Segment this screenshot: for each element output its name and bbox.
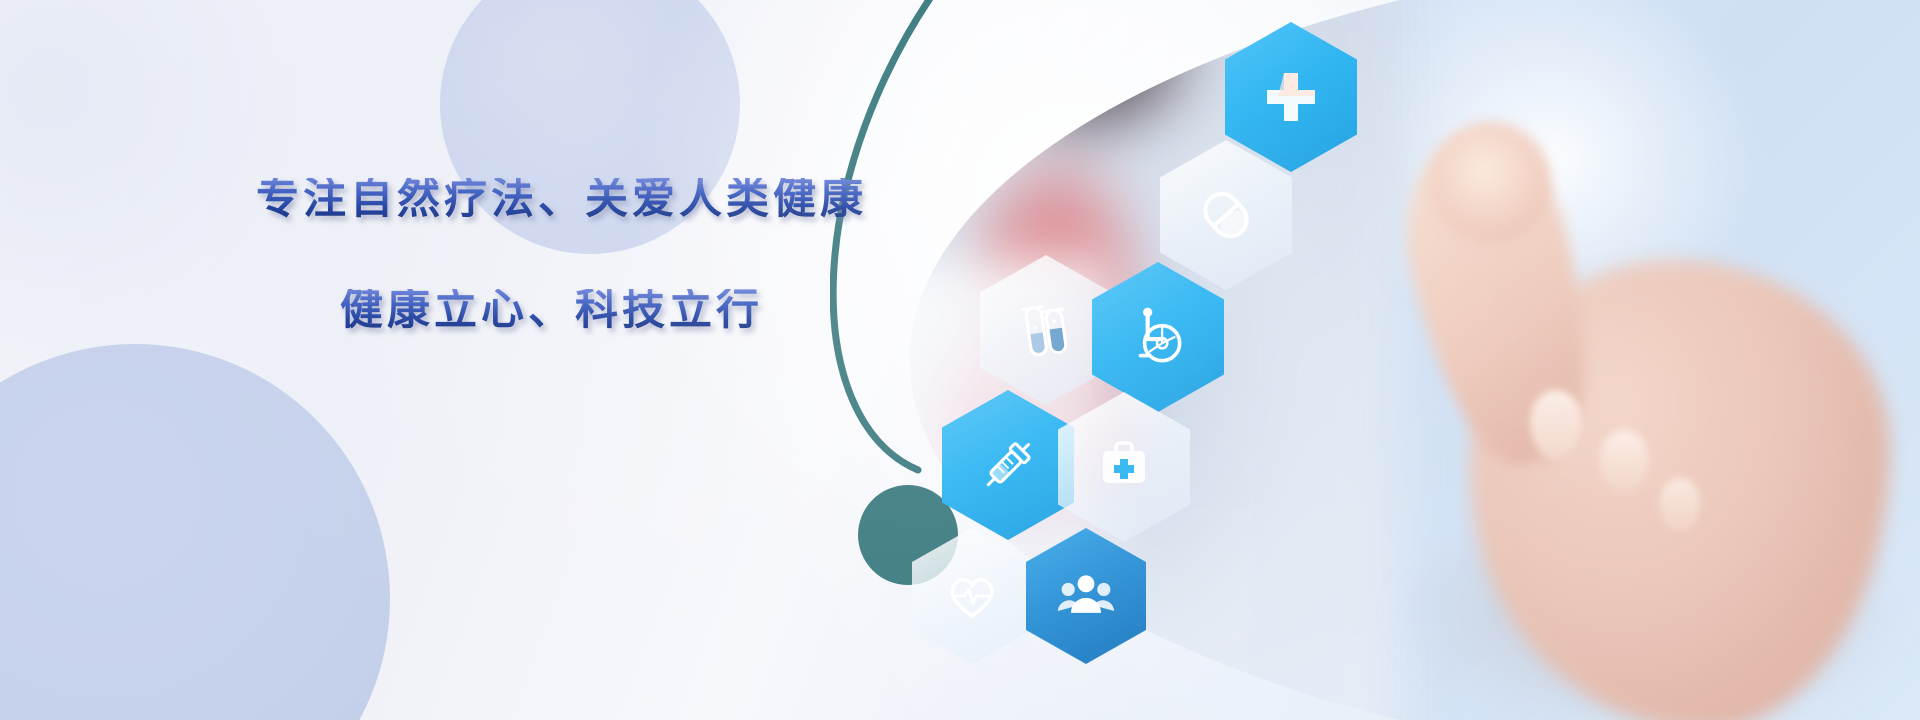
heart-icon [943, 567, 1001, 625]
photo-panel [830, 0, 1920, 720]
hexagon-icon-cluster [830, 0, 1920, 720]
test-tubes-icon [1013, 297, 1079, 363]
people-group-icon [1056, 566, 1116, 626]
capsule-pill-icon [1193, 182, 1259, 248]
first-aid-kit-icon [1092, 435, 1156, 499]
headline-line-1: 专注自然疗法、关爱人类健康 [256, 178, 896, 221]
medical-cross-icon [1259, 65, 1323, 129]
syringe-icon [975, 432, 1041, 498]
hexagon-people-group[interactable] [1026, 528, 1146, 664]
hexagon-syringe[interactable] [942, 390, 1074, 540]
headline-line-2: 健康立心、科技立行 [340, 289, 896, 332]
decorative-circle-bottom [0, 344, 390, 720]
hexagon-wheelchair[interactable] [1092, 262, 1224, 412]
headline-block: 专注自然疗法、关爱人类健康 健康立心、科技立行 [256, 178, 896, 332]
hexagon-heart[interactable] [912, 528, 1032, 664]
hero-banner: 专注自然疗法、关爱人类健康 健康立心、科技立行 [0, 0, 1920, 720]
wheelchair-icon [1125, 304, 1191, 370]
hexagon-medical-cross[interactable] [1225, 22, 1357, 172]
hexagon-capsule-pill[interactable] [1160, 140, 1292, 290]
hexagon-first-aid-kit[interactable] [1058, 392, 1190, 542]
